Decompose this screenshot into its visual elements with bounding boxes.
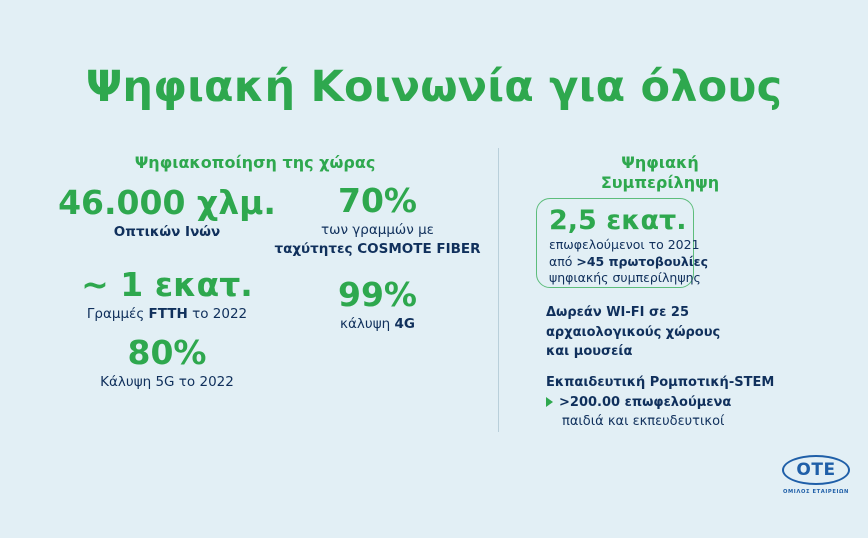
wifi-museums-line3: και μουσεία (546, 342, 720, 362)
stat-4g-caption-pre: κάλυψη (340, 316, 394, 332)
stat-4g-coverage: 99% κάλυψη 4G (270, 277, 485, 333)
ote-logo: OTE ΟΜΙΛΟΣ ΕΤΑΙΡΕΙΩΝ (779, 455, 853, 501)
stat-fiber-km: 46.000 χλμ. Οπτικών Ινών (32, 185, 302, 241)
stat-cosmote-fiber-caption-line1: των γραμμών με (270, 221, 485, 239)
stat-digital-inclusion-value: 2,5 εκατ. (549, 205, 683, 237)
stat-digital-inclusion-line2: από >45 πρωτοβουλίες (549, 254, 683, 271)
left-column-heading: Ψηφιακοποίηση της χώρας (30, 153, 480, 173)
stat-5g-coverage-caption: Κάλυψη 5G το 2022 (32, 373, 302, 391)
stem-robotics-block: Εκπαιδευτική Ρομποτική-STEM >200.00 επωφ… (546, 373, 774, 432)
left-column: Ψηφιακοποίηση της χώρας 46.000 χλμ. Οπτι… (30, 145, 480, 445)
stat-digital-inclusion-line1: επωφελούμενοι το 2021 (549, 237, 683, 254)
right-column: Ψηφιακή Συμπερίληψη 2,5 εκατ. επωφελούμε… (510, 145, 840, 445)
stat-fiber-km-value: 46.000 χλμ. (32, 185, 302, 222)
stat-ftth-lines-caption: Γραμμές FTTH το 2022 (32, 305, 302, 323)
ote-logo-tagline: ΟΜΙΛΟΣ ΕΤΑΙΡΕΙΩΝ (779, 489, 853, 495)
right-column-heading-line1: Ψηφιακή (510, 153, 810, 173)
stat-digital-inclusion-line2-pre: από (549, 254, 576, 269)
stat-ftth-caption-bold: FTTH (149, 306, 188, 322)
stat-ftth-lines-value: ~ 1 εκατ. (32, 267, 302, 304)
stat-ftth-caption-pre: Γραμμές (87, 306, 149, 322)
stem-robotics-line3: παιδιά και εκπευδευτικοί (546, 412, 774, 432)
stat-5g-coverage: 80% Κάλυψη 5G το 2022 (32, 335, 302, 391)
ote-logo-oval-icon: OTE (782, 455, 850, 485)
stem-robotics-line2-row: >200.00 επωφελούμενα (546, 393, 774, 413)
page-title: Ψηφιακή Κοινωνία για όλους (0, 64, 868, 111)
right-column-heading: Ψηφιακή Συμπερίληψη (510, 153, 810, 194)
stat-digital-inclusion-line3: ψηφιακής συμπερίληψης (549, 270, 683, 287)
stat-ftth-caption-post: το 2022 (188, 306, 247, 322)
stat-4g-coverage-caption: κάλυψη 4G (270, 315, 485, 333)
stem-robotics-line2: >200.00 επωφελούμενα (559, 393, 731, 413)
triangle-bullet-icon (546, 397, 553, 407)
stat-cosmote-fiber-share-value: 70% (270, 183, 485, 220)
wifi-museums-line1: Δωρεάν WI-FI σε 25 (546, 303, 720, 323)
stat-digital-inclusion-box: 2,5 εκατ. επωφελούμενοι το 2021 από >45 … (536, 198, 694, 288)
right-column-heading-line2: Συμπερίληψη (510, 173, 810, 193)
ote-logo-mark: OTE (796, 462, 835, 479)
stat-4g-caption-bold: 4G (394, 316, 414, 332)
infographic-canvas: Ψηφιακή Κοινωνία για όλους Ψηφιακοποίηση… (0, 0, 868, 538)
stat-digital-inclusion-line2-bold: >45 πρωτοβουλίες (576, 254, 708, 269)
stat-5g-coverage-value: 80% (32, 335, 302, 372)
stat-cosmote-fiber-share: 70% των γραμμών με ταχύτητες COSMOTE FIB… (270, 183, 485, 258)
wifi-museums-line2: αρχαιολογικούς χώρους (546, 323, 720, 343)
stat-4g-coverage-value: 99% (270, 277, 485, 314)
stat-cosmote-fiber-caption-line2: ταχύτητες COSMOTE FIBER (270, 240, 485, 258)
stat-ftth-lines: ~ 1 εκατ. Γραμμές FTTH το 2022 (32, 267, 302, 323)
stem-robotics-line1: Εκπαιδευτική Ρομποτική-STEM (546, 373, 774, 393)
wifi-museums-block: Δωρεάν WI-FI σε 25 αρχαιολογικούς χώρους… (546, 303, 720, 362)
column-divider (498, 148, 499, 432)
stat-fiber-km-caption: Οπτικών Ινών (32, 223, 302, 241)
